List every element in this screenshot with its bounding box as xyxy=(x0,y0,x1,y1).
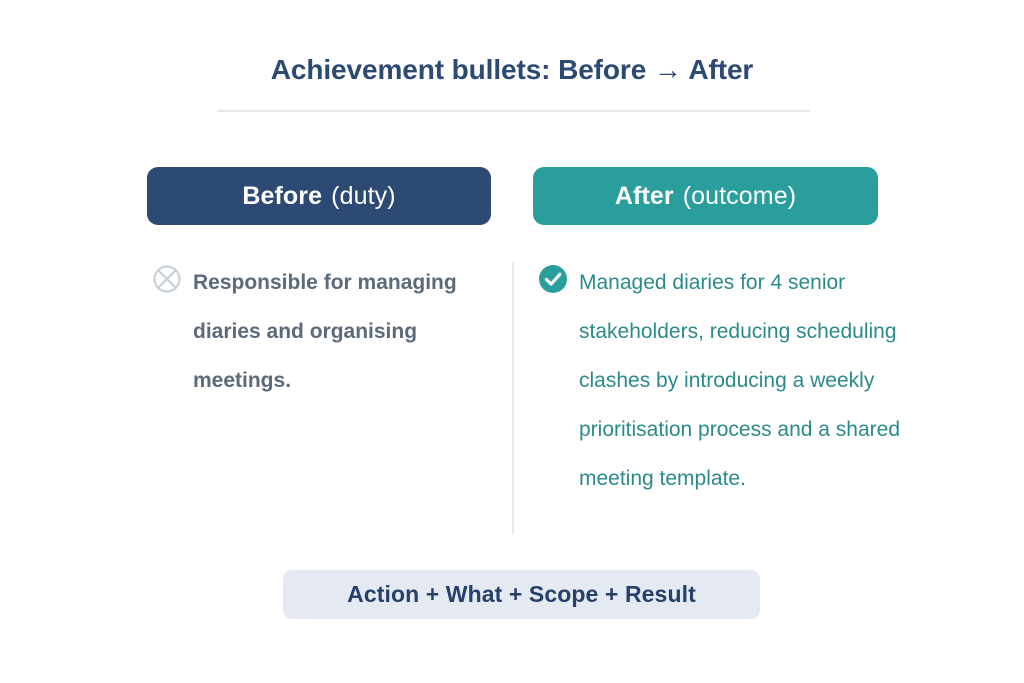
column-header-before[interactable]: Before (duty) xyxy=(147,167,491,225)
title-divider xyxy=(217,110,810,112)
column-header-after-label: After xyxy=(615,182,674,211)
formula-badge: Action + What + Scope + Result xyxy=(283,570,760,619)
formula-badge-label: Action + What + Scope + Result xyxy=(347,581,696,608)
bullet-item-before: Responsible for managing diaries and org… xyxy=(152,258,492,405)
column-header-after[interactable]: After (outcome) xyxy=(533,167,878,225)
slide-canvas: Achievement bullets: Before → After Befo… xyxy=(0,0,1024,683)
column-header-after-sublabel: (outcome) xyxy=(683,182,796,211)
bullet-text-before: Responsible for managing diaries and org… xyxy=(193,258,492,405)
circle-check-icon xyxy=(538,264,568,294)
bullet-item-after: Managed diaries for 4 senior stakeholder… xyxy=(538,258,968,503)
circle-cross-icon xyxy=(152,264,182,294)
column-header-before-sublabel: (duty) xyxy=(331,182,396,211)
page-title: Achievement bullets: Before → After xyxy=(0,54,1024,86)
bullet-text-after: Managed diaries for 4 senior stakeholder… xyxy=(579,258,968,503)
column-divider xyxy=(512,262,514,535)
column-header-before-label: Before xyxy=(242,182,322,211)
